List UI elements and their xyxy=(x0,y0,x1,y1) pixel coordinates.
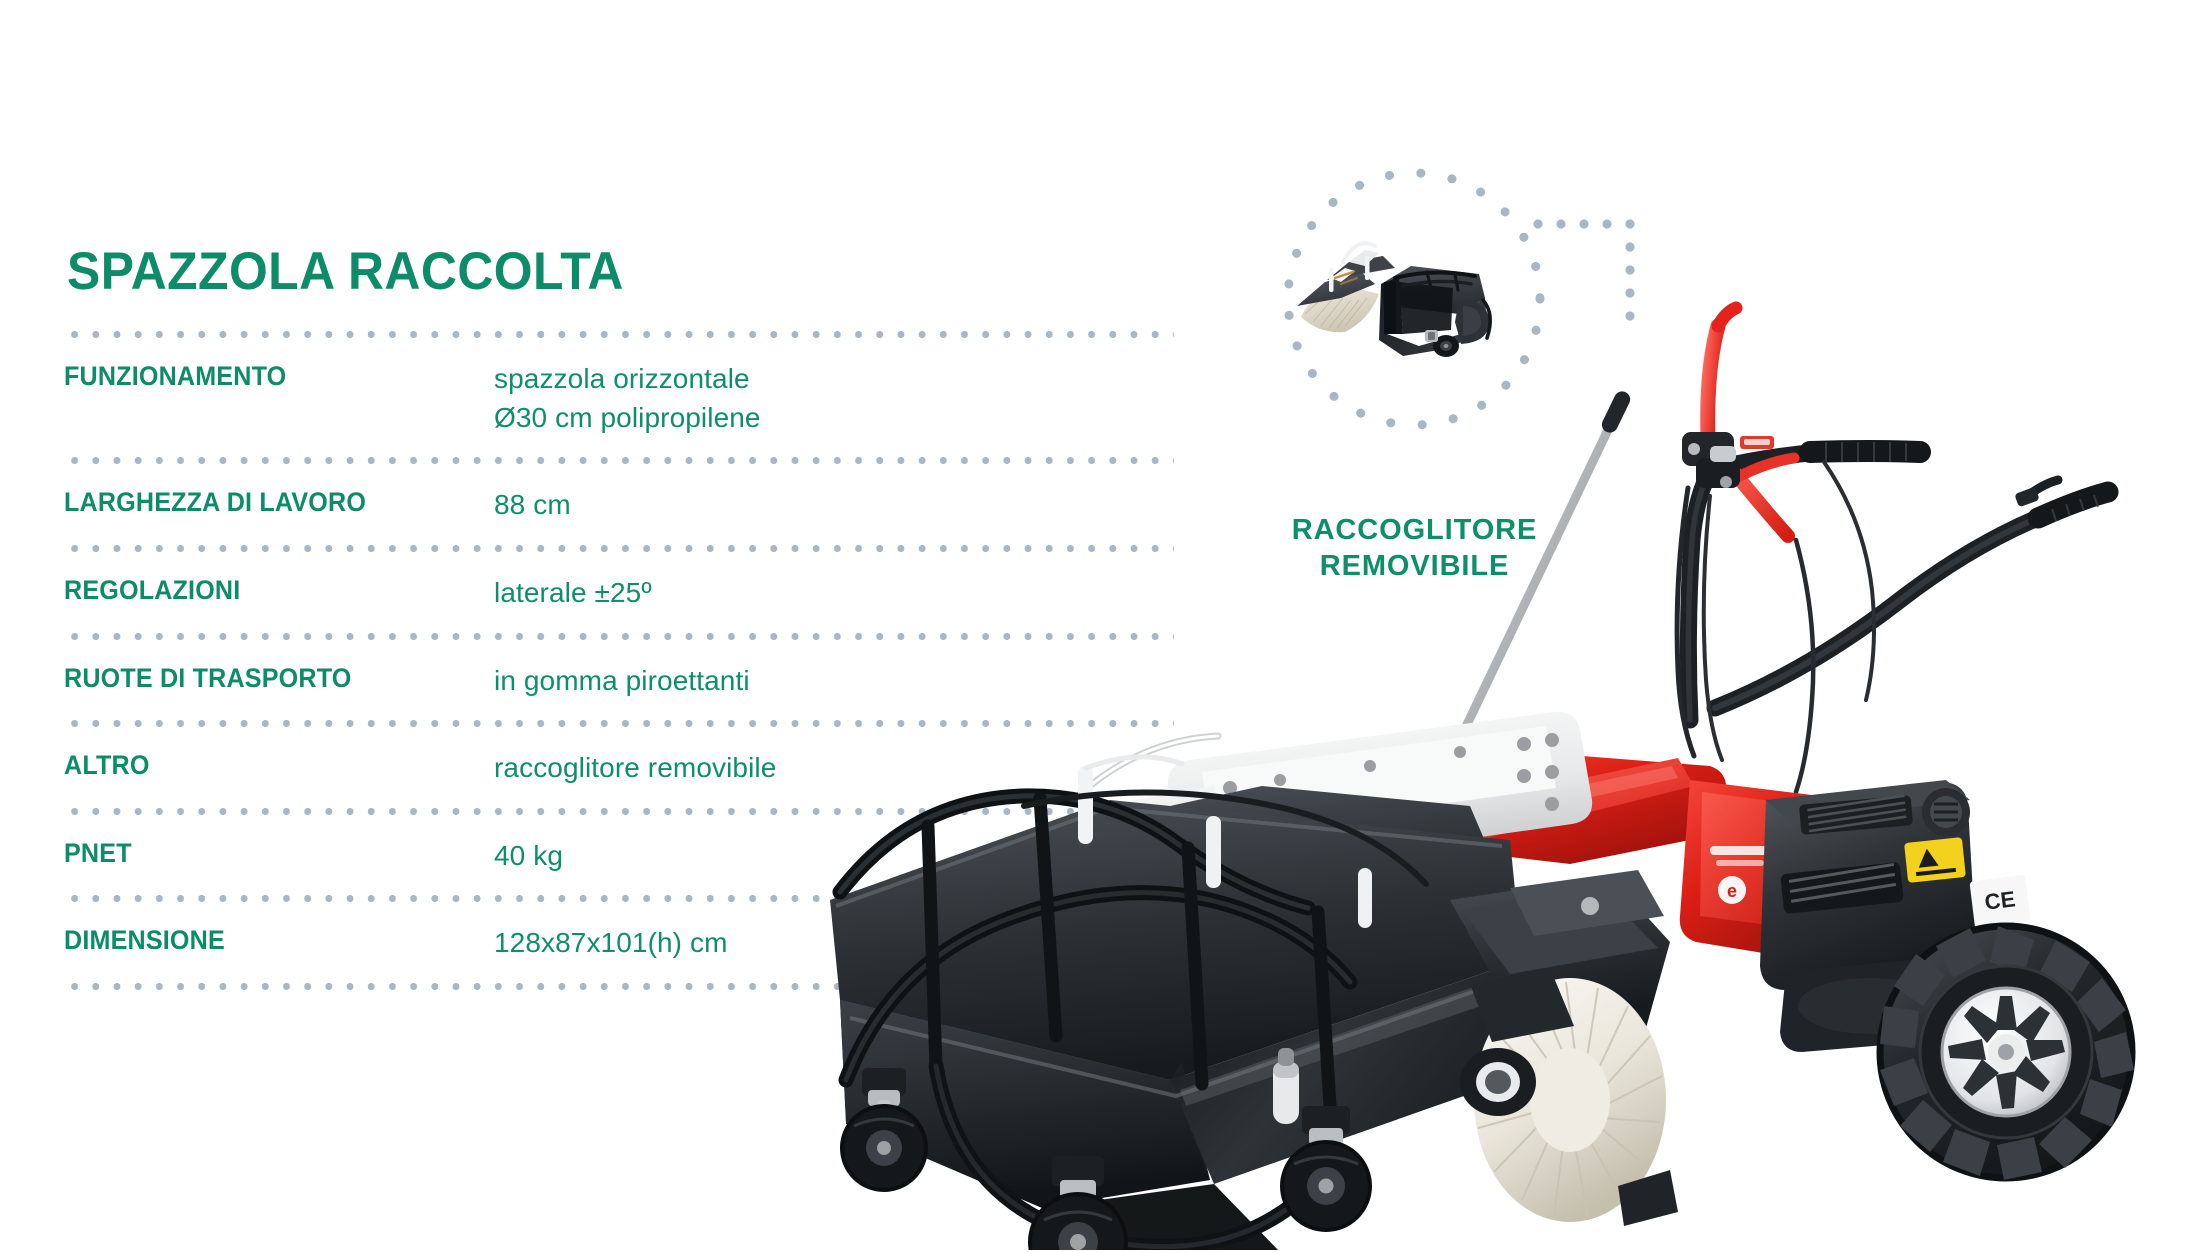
product-imagery: RACCOGLITORE REMOVIBILE xyxy=(1180,0,2190,1252)
spec-label: RUOTE DI TRASPORTO xyxy=(64,662,464,693)
spec-label: REGOLAZIONI xyxy=(64,574,464,605)
product-spec-sheet: SPAZZOLA RACCOLTA FUNZIONAMENTO spazzola… xyxy=(0,0,2190,1252)
spec-label: FUNZIONAMENTO xyxy=(64,360,464,391)
spec-label: ALTRO xyxy=(64,749,464,780)
spec-label: PNET xyxy=(64,837,464,868)
machine-photo: e xyxy=(810,200,2190,1250)
spec-label: LARGHEZZA DI LAVORO xyxy=(64,486,464,517)
svg-text:e: e xyxy=(1727,881,1737,901)
spec-label: DIMENSIONE xyxy=(64,924,464,955)
svg-text:CE: CE xyxy=(1983,886,2016,915)
